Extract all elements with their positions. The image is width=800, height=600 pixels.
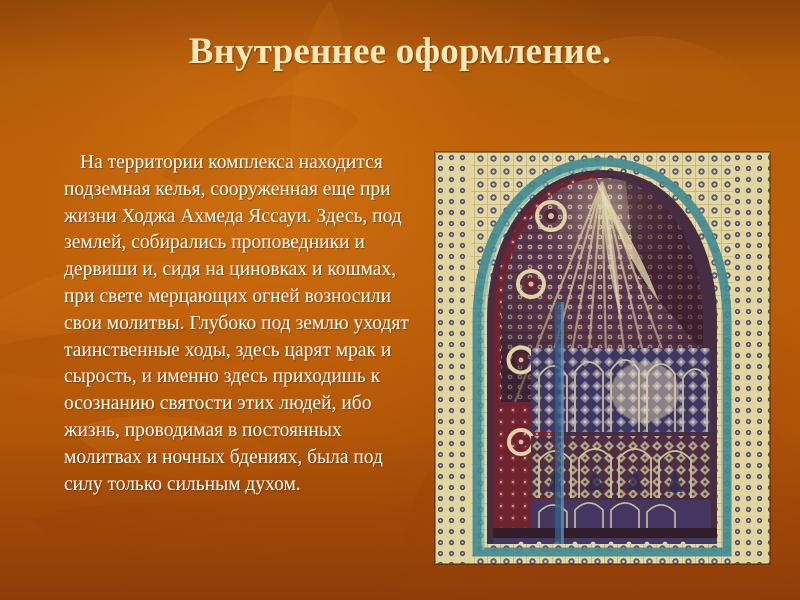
slide-body-paragraph: На территории комплекса находится подзем… [64, 150, 416, 498]
dome-interior-photo [435, 152, 770, 564]
presentation-slide: Внутреннее оформление. На территории ком… [0, 0, 800, 600]
slide-title: Внутреннее оформление. [0, 30, 800, 73]
